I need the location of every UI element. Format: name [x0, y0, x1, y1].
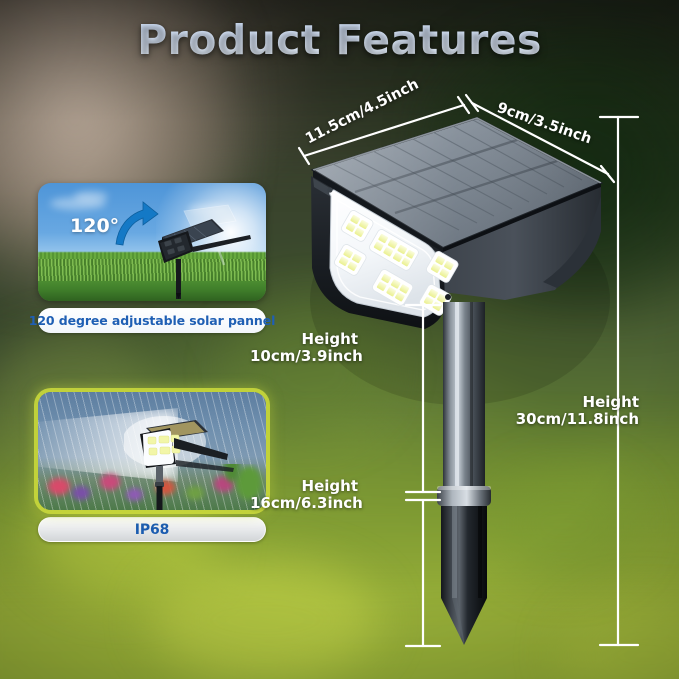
ground-stake	[441, 506, 487, 645]
dimension-word-height: Height	[250, 331, 358, 348]
dimension-value: 16cm/6.3inch	[250, 495, 358, 512]
dim-tick-width-start	[466, 95, 478, 111]
dimension-value: 30cm/11.8inch	[515, 411, 639, 428]
dimension-label-upper-post: Height 10cm/3.9inch	[250, 331, 358, 365]
dimension-label-total-height: Height 30cm/11.8inch	[515, 394, 639, 428]
adjustable-post	[443, 302, 485, 486]
dimension-word-height: Height	[515, 394, 639, 411]
screw	[445, 294, 451, 300]
dim-tick-width-end	[601, 166, 614, 182]
sensor-dot	[327, 187, 332, 192]
dim-tick-depth-end	[458, 97, 469, 113]
dimension-label-stake: Height 16cm/6.3inch	[250, 478, 358, 512]
dimension-value: 10cm/3.9inch	[250, 348, 358, 365]
post-collar	[437, 486, 491, 506]
dimension-word-height: Height	[250, 478, 358, 495]
